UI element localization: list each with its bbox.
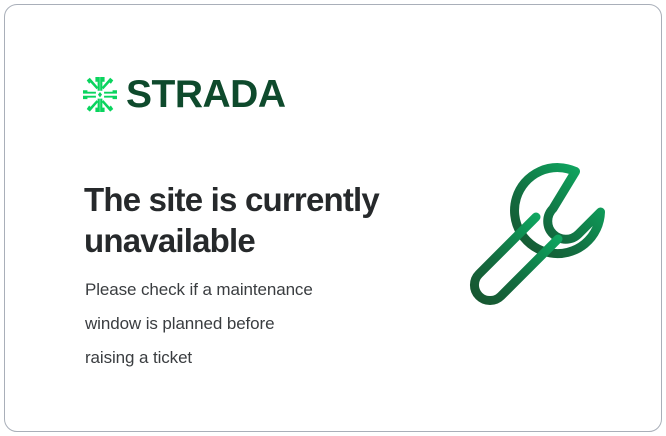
page-description: Please check if a maintenance window is … <box>85 273 395 375</box>
brand-lockup: STRADA <box>83 75 286 114</box>
description-line: Please check if a maintenance <box>85 273 395 307</box>
error-page: STRADA The site is currently unavailable… <box>0 0 666 436</box>
page-title: The site is currently unavailable <box>84 180 424 262</box>
wrench-icon <box>457 155 617 315</box>
brand-wordmark: STRADA <box>126 75 286 114</box>
description-line: window is planned before <box>85 307 395 341</box>
status-card: STRADA The site is currently unavailable… <box>4 4 662 432</box>
description-line: raising a ticket <box>85 341 395 375</box>
strada-asterisk-icon <box>83 77 117 113</box>
